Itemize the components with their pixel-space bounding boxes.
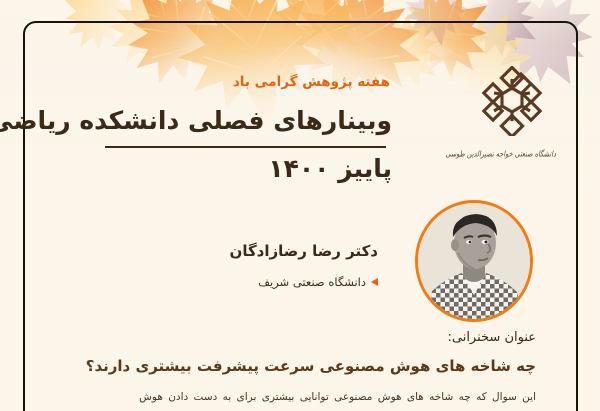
speaker-affiliation: دانشگاه صنعتی شریف	[258, 275, 366, 289]
webinar-poster: هفته پژوهش گرامی باد وبینارهای فصلی دانش…	[0, 0, 600, 411]
talk-description: این سوال که چه شاخه های هوش مصنوعی توانا…	[74, 388, 536, 406]
poster-content: هفته پژوهش گرامی باد وبینارهای فصلی دانش…	[0, 0, 600, 411]
title-underline	[105, 146, 386, 148]
triangle-bullet-icon	[371, 278, 378, 286]
season-year: پاییز ۱۴۰۰	[268, 154, 392, 183]
logo-caption: دانشگاه صنعتی خواجه نصیرالدین طوسی	[468, 149, 556, 159]
speaker-portrait-image	[418, 203, 530, 319]
speaker-name: دکتر رضا رضازادگان	[230, 242, 378, 260]
research-week-kicker: هفته پژوهش گرامی باد	[233, 74, 390, 90]
talk-title: چه شاخه های هوش مصنوعی سرعت پیشرفت بیشتر…	[71, 357, 536, 375]
talk-title-label: عنوان سخنرانی:	[447, 330, 536, 345]
speaker-photo	[415, 200, 533, 322]
speaker-affiliation-row: دانشگاه صنعتی شریف	[258, 275, 378, 289]
page-title: وبینارهای فصلی دانشکده ریاضی	[0, 106, 392, 135]
kntu-hexagonal-logo-icon	[478, 66, 546, 136]
university-logo: دانشگاه صنعتی خواجه نصیرالدین طوسی	[468, 66, 556, 158]
